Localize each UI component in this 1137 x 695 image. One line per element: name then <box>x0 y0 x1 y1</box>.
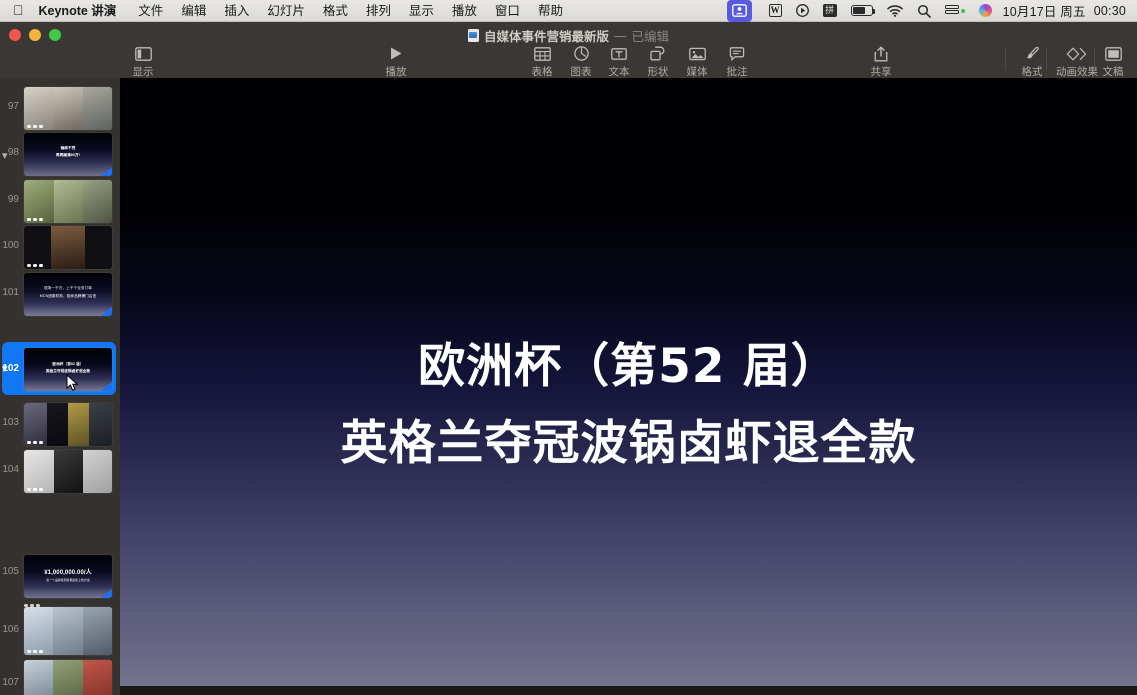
wps-icon[interactable]: W <box>762 0 789 22</box>
slide-corner-mark <box>101 589 112 598</box>
slide-number: 103 <box>0 400 24 446</box>
document-edit-state: 已编辑 <box>632 26 670 45</box>
slide-thumbnail[interactable] <box>24 660 112 695</box>
slide-canvas[interactable]: 欧洲杯（第52 届） 英格兰夺冠波锅卤虾退全款 <box>120 78 1137 695</box>
keynote-window: 自媒体事件营销最新版 — 已编辑 显示 <box>0 22 1137 695</box>
sidebar-icon <box>116 44 170 63</box>
document-dash: — <box>614 29 627 43</box>
slide-number: 104 <box>0 447 24 493</box>
menu-item-view[interactable]: 显示 <box>400 2 443 20</box>
slide-corner-mark <box>101 167 112 176</box>
slide-thumbnail[interactable] <box>24 450 112 493</box>
document-title-bar[interactable]: 自媒体事件营销最新版 — 已编辑 <box>0 26 1137 45</box>
share-button-label: 共享 <box>854 64 908 79</box>
thumb-text-line: 再再赚满80万! <box>24 153 112 158</box>
thumb-text-line: MCN团服机构，独家品牌爆门店咨 <box>24 294 112 299</box>
build-dots <box>27 441 43 445</box>
document-button-label: 文稿 <box>1090 64 1136 79</box>
slide-thumbnail[interactable] <box>24 226 112 269</box>
slide-navigator[interactable]: 97 98 ▾ 赚麻不完 再再赚满80万! <box>0 78 120 695</box>
spotlight-search-icon[interactable] <box>910 0 938 22</box>
battery-charging-icon[interactable] <box>844 0 880 22</box>
slide-number: 106 <box>0 605 24 655</box>
thumb-text-line: 现场一千万，上千个业务订单 <box>24 286 112 291</box>
menu-bar:  Keynote 讲演 文件 编辑 插入 幻灯片 格式 排列 显示 播放 窗口… <box>0 0 1137 22</box>
thumb-text-line: 赚麻不完 <box>24 146 112 151</box>
control-center-icon[interactable] <box>938 0 972 22</box>
menu-bar-status-area: W 拼 10月17日 周五 00: <box>727 0 1137 22</box>
slide-corner-mark <box>101 307 112 316</box>
play-button[interactable]: 播放 <box>369 44 423 79</box>
slide-thumbnail[interactable] <box>24 180 112 223</box>
slide-thumbnail[interactable]: ▾ 赚麻不完 再再赚满80万! <box>24 133 112 176</box>
slide-title-line-1: 欧洲杯（第52 届） <box>120 340 1137 395</box>
siri-icon[interactable] <box>972 0 999 22</box>
list-item[interactable]: 100 <box>0 223 120 269</box>
build-dots <box>27 650 43 654</box>
chevron-down-icon[interactable]: ▾ <box>2 151 8 162</box>
apple-logo-icon[interactable]:  <box>0 3 37 17</box>
build-dots <box>27 264 43 268</box>
menu-item-app[interactable]: Keynote 讲演 <box>37 2 130 20</box>
media-play-icon[interactable] <box>789 0 816 22</box>
list-item[interactable]: 104 <box>0 447 120 493</box>
canvas-bottom-strip <box>120 686 1137 695</box>
play-triangle-icon <box>369 44 423 63</box>
chevron-down-icon[interactable]: ▾ <box>2 364 8 375</box>
input-method-pinyin-icon[interactable]: 拼 <box>816 0 844 22</box>
title-bar: 自媒体事件营销最新版 — 已编辑 显示 <box>0 22 1137 78</box>
slide-number: 107 <box>0 658 24 695</box>
menu-item-help[interactable]: 帮助 <box>529 2 572 20</box>
slide-title-line-2: 英格兰夺冠波锅卤虾退全款 <box>120 417 1137 472</box>
slide-thumbnail[interactable]: ¥1,000,000.00/人 第一个品牌案例营销最新上线方案 <box>24 555 112 598</box>
comment-button[interactable]: 批注 <box>710 44 764 79</box>
menu-item-edit[interactable]: 编辑 <box>172 2 215 20</box>
keynote-file-icon <box>468 29 479 42</box>
list-item[interactable]: 97 <box>0 84 120 130</box>
slide-number: 100 <box>0 223 24 269</box>
list-item-selected[interactable]: 102 ▾ 欧洲杯（第52 届） 英格兰夺冠波锅卤虾退全款 <box>0 346 120 391</box>
slide-title-block[interactable]: 欧洲杯（第52 届） 英格兰夺冠波锅卤虾退全款 <box>120 340 1137 471</box>
list-item[interactable]: 99 <box>0 177 120 223</box>
menu-item-file[interactable]: 文件 <box>129 2 172 20</box>
slide-number: 97 <box>0 84 24 130</box>
document-panel-icon <box>1090 44 1136 63</box>
share-button[interactable]: 共享 <box>854 44 908 79</box>
list-item[interactable]: 106 <box>0 605 120 655</box>
menu-item-format[interactable]: 格式 <box>314 2 357 20</box>
screen-mirroring-icon[interactable] <box>727 0 752 22</box>
menu-bar-time[interactable]: 00:30 <box>1090 0 1130 22</box>
menu-item-arrange[interactable]: 排列 <box>357 2 400 20</box>
slide-number: 99 <box>0 177 24 223</box>
menu-bar-date[interactable]: 10月17日 周五 <box>999 0 1090 22</box>
slide-thumbnail[interactable] <box>24 607 112 655</box>
menu-item-insert[interactable]: 插入 <box>215 2 258 20</box>
thumb-text-line: 欧洲杯（第52 届） <box>24 362 112 367</box>
build-dots <box>27 488 43 492</box>
slide-number: 101 <box>0 270 24 316</box>
document-button[interactable]: 文稿 <box>1090 44 1136 79</box>
thumb-text-line: 第一个品牌案例营销最新上线方案 <box>24 578 112 582</box>
view-button[interactable]: 显示 <box>116 44 170 79</box>
comment-button-label: 批注 <box>710 64 764 79</box>
current-slide[interactable]: 欧洲杯（第52 届） 英格兰夺冠波锅卤虾退全款 <box>120 78 1137 686</box>
list-item[interactable]: 98 ▾ 赚麻不完 再再赚满80万! <box>0 130 120 176</box>
share-upload-icon <box>854 44 908 63</box>
slide-thumbnail[interactable] <box>24 403 112 446</box>
list-item[interactable]: 107 <box>0 658 120 695</box>
document-title: 自媒体事件营销最新版 <box>484 26 609 45</box>
thumb-text-line: ¥1,000,000.00/人 <box>24 569 112 578</box>
slide-thumbnail[interactable]: 现场一千万，上千个业务订单 MCN团服机构，独家品牌爆门店咨 <box>24 273 112 316</box>
slide-thumbnail[interactable]: ▾ 欧洲杯（第52 届） 英格兰夺冠波锅卤虾退全款 <box>24 348 112 391</box>
list-item[interactable]: 103 <box>0 400 120 446</box>
list-item[interactable]: 105 ¥1,000,000.00/人 第一个品牌案例营销最新上线方案 <box>0 546 120 598</box>
wifi-icon[interactable] <box>880 0 910 22</box>
toolbar: 显示 播放 表格 <box>0 44 1137 78</box>
slide-number: 105 <box>0 546 24 598</box>
build-dots <box>27 218 43 222</box>
slide-corner-mark <box>101 382 112 391</box>
slide-thumbnail[interactable] <box>24 87 112 130</box>
menu-item-slide[interactable]: 幻灯片 <box>258 2 314 20</box>
menu-item-play[interactable]: 播放 <box>443 2 486 20</box>
view-button-label: 显示 <box>116 64 170 79</box>
list-item[interactable]: 101 现场一千万，上千个业务订单 MCN团服机构，独家品牌爆门店咨 <box>0 270 120 316</box>
menu-item-window[interactable]: 窗口 <box>486 2 529 20</box>
play-button-label: 播放 <box>369 64 423 79</box>
build-dots <box>27 125 43 129</box>
comment-bubble-icon <box>710 44 764 63</box>
